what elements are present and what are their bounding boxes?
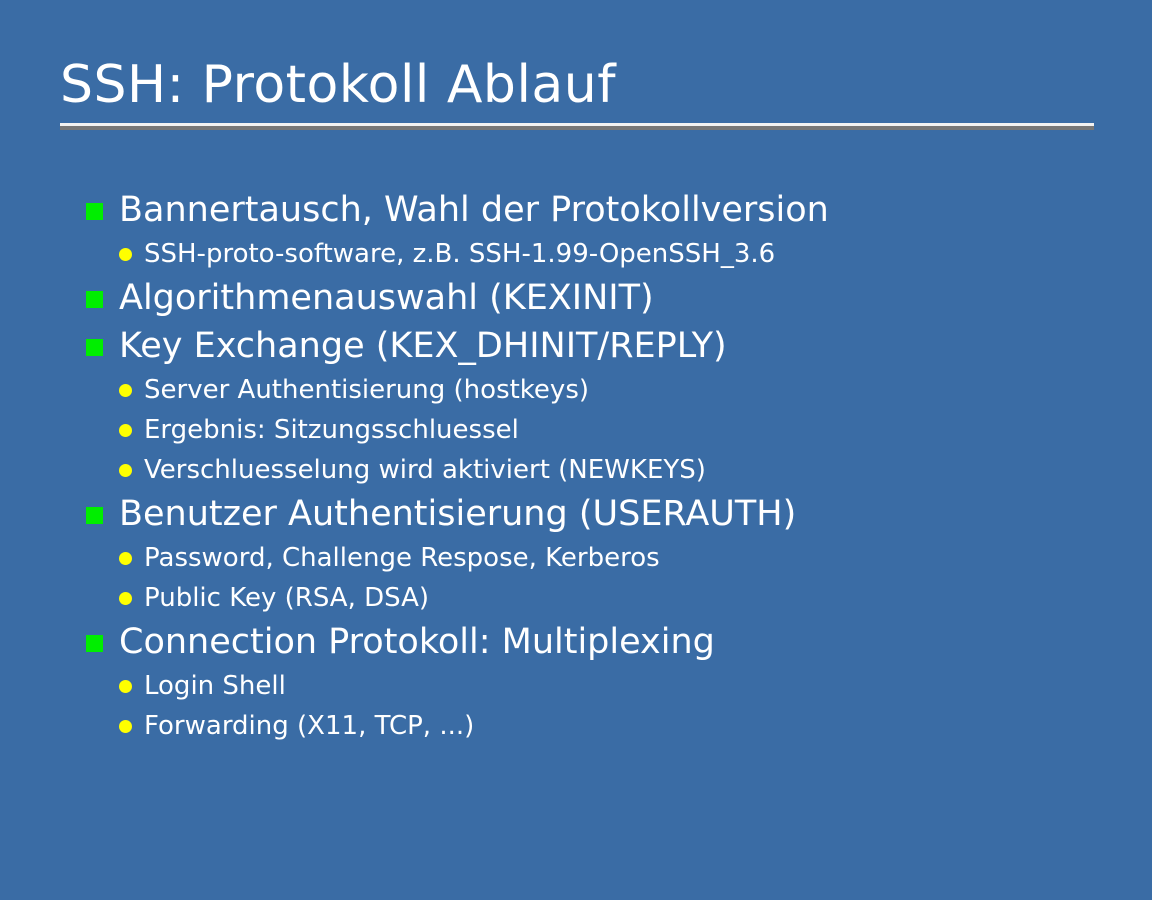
square-bullet-icon [86, 339, 103, 356]
circle-bullet-icon [119, 552, 132, 565]
bullet-list: Bannertausch, Wahl der ProtokollversionS… [86, 186, 1126, 746]
circle-bullet-icon [119, 384, 132, 397]
list-item: Server Authentisierung (hostkeys) [86, 370, 1152, 410]
list-item-label: Connection Protokoll: Multiplexing [119, 618, 715, 666]
list-item: SSH-proto-software, z.B. SSH-1.99-OpenSS… [86, 234, 1152, 274]
circle-bullet-icon [119, 680, 132, 693]
title-block: SSH: Protokoll Ablauf [60, 54, 1094, 116]
list-item-label: Ergebnis: Sitzungsschluessel [144, 410, 519, 450]
circle-bullet-icon [119, 248, 132, 261]
list-item-label: Forwarding (X11, TCP, ...) [144, 706, 474, 746]
page-title: SSH: Protokoll Ablauf [60, 54, 1094, 116]
list-item: Bannertausch, Wahl der Protokollversion [86, 186, 1126, 234]
list-item: Verschluesselung wird aktiviert (NEWKEYS… [86, 450, 1152, 490]
title-underline-rule [60, 123, 1094, 130]
list-item-label: Server Authentisierung (hostkeys) [144, 370, 589, 410]
circle-bullet-icon [119, 424, 132, 437]
presentation-slide: SSH: Protokoll Ablauf Bannertausch, Wahl… [0, 0, 1152, 900]
title-rule-shadow [60, 126, 1094, 130]
list-item: Login Shell [86, 666, 1152, 706]
square-bullet-icon [86, 203, 103, 220]
list-item-label: Algorithmenauswahl (KEXINIT) [119, 274, 654, 322]
list-item: Key Exchange (KEX_DHINIT/REPLY) [86, 322, 1126, 370]
list-item: Ergebnis: Sitzungsschluessel [86, 410, 1152, 450]
list-item-label: Verschluesselung wird aktiviert (NEWKEYS… [144, 450, 706, 490]
list-item-label: Public Key (RSA, DSA) [144, 578, 429, 618]
list-item: Password, Challenge Respose, Kerberos [86, 538, 1152, 578]
circle-bullet-icon [119, 720, 132, 733]
circle-bullet-icon [119, 592, 132, 605]
square-bullet-icon [86, 507, 103, 524]
square-bullet-icon [86, 635, 103, 652]
list-item-label: Key Exchange (KEX_DHINIT/REPLY) [119, 322, 727, 370]
list-item: Forwarding (X11, TCP, ...) [86, 706, 1152, 746]
list-item-label: Benutzer Authentisierung (USERAUTH) [119, 490, 796, 538]
list-item: Connection Protokoll: Multiplexing [86, 618, 1126, 666]
list-item: Algorithmenauswahl (KEXINIT) [86, 274, 1126, 322]
list-item-label: Password, Challenge Respose, Kerberos [144, 538, 660, 578]
list-item-label: Login Shell [144, 666, 286, 706]
list-item: Public Key (RSA, DSA) [86, 578, 1152, 618]
square-bullet-icon [86, 291, 103, 308]
circle-bullet-icon [119, 464, 132, 477]
list-item-label: Bannertausch, Wahl der Protokollversion [119, 186, 829, 234]
list-item-label: SSH-proto-software, z.B. SSH-1.99-OpenSS… [144, 234, 775, 274]
list-item: Benutzer Authentisierung (USERAUTH) [86, 490, 1126, 538]
